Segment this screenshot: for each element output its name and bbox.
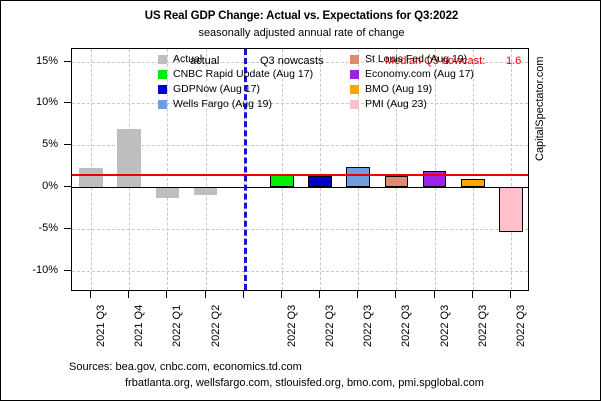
x-axis-tick-label: 2022 Q3	[324, 305, 336, 347]
x-axis-tick	[205, 291, 206, 298]
y-axis-tick-label: 0%	[6, 180, 58, 192]
x-axis-tick	[243, 291, 244, 298]
legend-item-label: GDPNow (Aug 17)	[173, 84, 260, 95]
x-axis-tick-label: 2022 Q1	[171, 305, 183, 347]
bar-actual	[156, 187, 180, 198]
legend-swatch-icon	[350, 70, 359, 79]
legend-item-label: Actual	[173, 54, 202, 65]
x-axis-tick-label: 2022 Q3	[477, 305, 489, 347]
y-axis-tick-label: -5%	[6, 222, 58, 234]
sources-note: Sources: bea.gov, cnbc.com, economics.td…	[69, 359, 484, 391]
x-axis-tick	[166, 291, 167, 298]
legend-swatch-icon	[350, 55, 359, 64]
chart-title: US Real GDP Change: Actual vs. Expectati…	[1, 10, 601, 22]
legend-item: GDPNow (Aug 17)	[158, 82, 313, 97]
x-axis-tick-label: 2022 Q3	[362, 305, 374, 347]
legend-swatch-icon	[158, 100, 167, 109]
x-axis-tick-label: 2021 Q4	[133, 305, 145, 347]
y-axis-tick	[64, 270, 71, 271]
legend-item: Economy.com (Aug 17)	[350, 67, 474, 82]
x-axis-tick	[128, 291, 129, 298]
bar-wells-fargo-aug-19	[346, 167, 370, 187]
watermark: CapitalSpectator.com	[534, 56, 546, 161]
legend-item: Wells Fargo (Aug 19)	[158, 97, 313, 112]
bar-cnbc-rapid-update-aug-17	[270, 174, 294, 187]
legend-item-label: Wells Fargo (Aug 19)	[173, 99, 272, 110]
legend-item: Actual	[158, 52, 313, 67]
y-axis-tick-label: 10%	[6, 96, 58, 108]
annotation-median-value: 1.6	[506, 55, 521, 67]
y-axis-tick	[64, 102, 71, 103]
bar-actual	[117, 129, 141, 188]
bar-actual	[194, 187, 218, 195]
y-axis-tick-label: 15%	[6, 55, 58, 67]
gridline-horizontal	[72, 271, 528, 272]
y-axis-tick	[64, 144, 71, 145]
legend-item: PMI (Aug 23)	[350, 97, 474, 112]
x-axis-tick	[319, 291, 320, 298]
legend-item-label: CNBC Rapid Update (Aug 17)	[173, 69, 313, 80]
x-axis-tick-label: 2022 Q2	[210, 305, 222, 347]
x-axis-tick-label: 2022 Q3	[400, 305, 412, 347]
x-axis-tick	[90, 291, 91, 298]
y-axis-tick-label: -10%	[6, 264, 58, 276]
legend-item-label: St Louis Fed (Aug 19)	[365, 54, 467, 65]
x-axis-tick	[472, 291, 473, 298]
bar-pmi-aug-23	[499, 187, 523, 232]
legend-item: St Louis Fed (Aug 19)	[350, 52, 474, 67]
chart-screenshot: US Real GDP Change: Actual vs. Expectati…	[0, 0, 601, 401]
legend-item: CNBC Rapid Update (Aug 17)	[158, 67, 313, 82]
legend-swatch-icon	[158, 85, 167, 94]
x-axis-tick	[281, 291, 282, 298]
bar-actual	[79, 168, 103, 187]
legend-swatch-icon	[158, 70, 167, 79]
zero-reference-line	[72, 187, 528, 188]
bar-bmo-aug-19	[461, 179, 485, 187]
legend-swatch-icon	[350, 85, 359, 94]
bar-st-louis-fed-aug-19	[385, 176, 409, 188]
x-axis-tick-label: 2022 Q3	[515, 305, 527, 347]
y-axis-tick	[64, 186, 71, 187]
y-axis-tick	[64, 228, 71, 229]
legend-item-label: Economy.com (Aug 17)	[365, 69, 474, 80]
y-axis-tick	[64, 61, 71, 62]
bar-gdpnow-aug-17	[308, 176, 332, 188]
chart-subtitle: seasonally adjusted annual rate of chang…	[1, 27, 601, 39]
legend-item-label: BMO (Aug 19)	[365, 84, 432, 95]
x-axis-tick	[434, 291, 435, 298]
x-axis-tick-label: 2022 Q3	[439, 305, 451, 347]
legend-swatch-icon	[350, 100, 359, 109]
sources-line-1: Sources: bea.gov, cnbc.com, economics.td…	[69, 359, 484, 375]
x-axis-tick-label: 2022 Q3	[286, 305, 298, 347]
y-axis-tick-label: 5%	[6, 138, 58, 150]
gridline-horizontal	[72, 229, 528, 230]
x-axis-tick	[395, 291, 396, 298]
x-axis-tick-label: 2021 Q3	[95, 305, 107, 347]
gridline-vertical	[511, 49, 512, 290]
sources-line-2: frbatlanta.org, wellsfargo.com, stlouisf…	[69, 375, 484, 391]
x-axis-tick	[510, 291, 511, 298]
legend-column-right: St Louis Fed (Aug 19)Economy.com (Aug 17…	[350, 52, 474, 112]
legend-column-left: ActualCNBC Rapid Update (Aug 17)GDPNow (…	[158, 52, 313, 112]
legend-item-label: PMI (Aug 23)	[365, 99, 427, 110]
legend-swatch-icon	[158, 55, 167, 64]
gridline-vertical	[320, 49, 321, 290]
median-nowcast-line	[72, 174, 528, 176]
legend-item: BMO (Aug 19)	[350, 82, 474, 97]
x-axis-tick	[357, 291, 358, 298]
